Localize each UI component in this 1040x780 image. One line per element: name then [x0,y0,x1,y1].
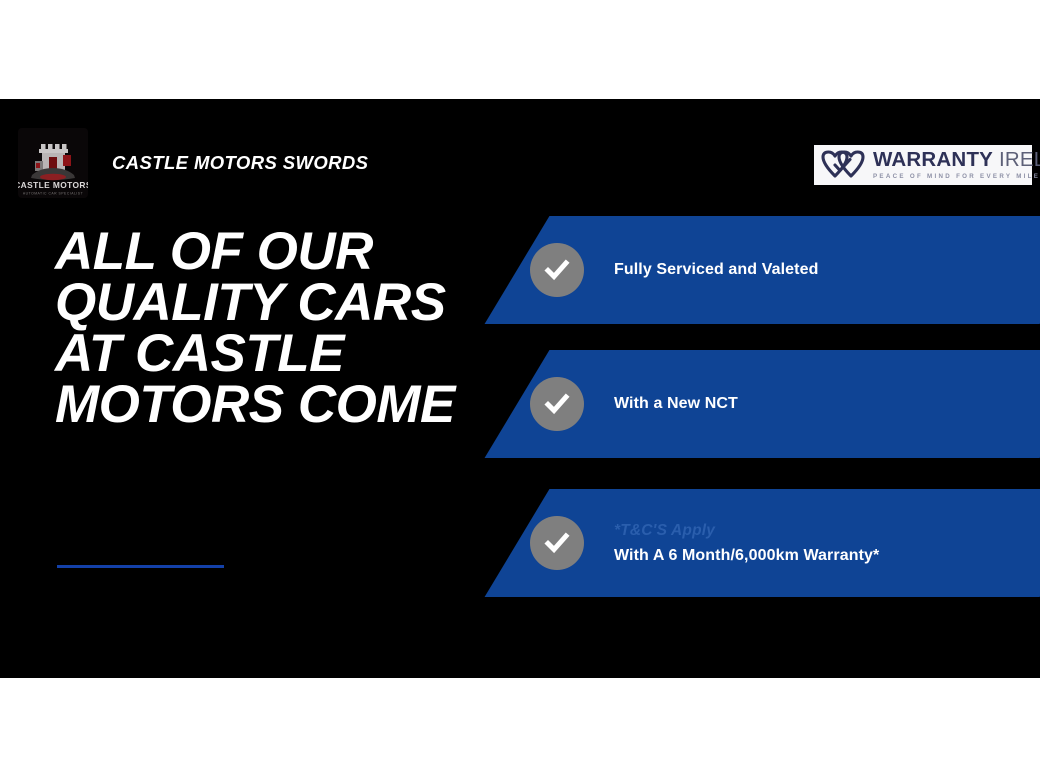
castle-motors-logo: CASTLE MOTORS AUTOMATIC CAR SPECIALIST [18,128,88,198]
warranty-ireland-badge: WARRANTY IRELAND PEACE OF MIND FOR EVERY… [814,145,1032,185]
svg-text:AUTOMATIC CAR SPECIALIST: AUTOMATIC CAR SPECIALIST [23,192,83,196]
warranty-badge-name: WARRANTY IRELAND [873,150,1040,171]
warranty-name-light-text: IRELAND [999,148,1040,171]
content-band: CASTLE MOTORS AUTOMATIC CAR SPECIALIST C… [0,99,1040,678]
feature-banner-shape-3 [485,489,1040,597]
warranty-badge-text: WARRANTY IRELAND PEACE OF MIND FOR EVERY… [873,150,1040,180]
page-title: ALL OF OUR QUALITY CARS AT CASTLE MOTORS… [55,226,455,430]
headline-divider [57,565,224,568]
warranty-badge-tagline: PEACE OF MIND FOR EVERY MILE [873,174,1040,180]
brand-name: CASTLE MOTORS SWORDS [112,152,368,174]
castle-tower-logo-icon: CASTLE MOTORS AUTOMATIC CAR SPECIALIST [18,128,88,198]
warranty-name-bold: WARRANTY [873,148,993,171]
brand-header: CASTLE MOTORS AUTOMATIC CAR SPECIALIST C… [18,128,368,198]
svg-text:CASTLE MOTORS: CASTLE MOTORS [18,180,88,190]
warranty-double-heart-icon [820,150,866,180]
poster-canvas: CASTLE MOTORS AUTOMATIC CAR SPECIALIST C… [0,0,1040,780]
feature-banner-shape-1 [485,216,1040,324]
feature-banner-shape-2 [485,350,1040,458]
